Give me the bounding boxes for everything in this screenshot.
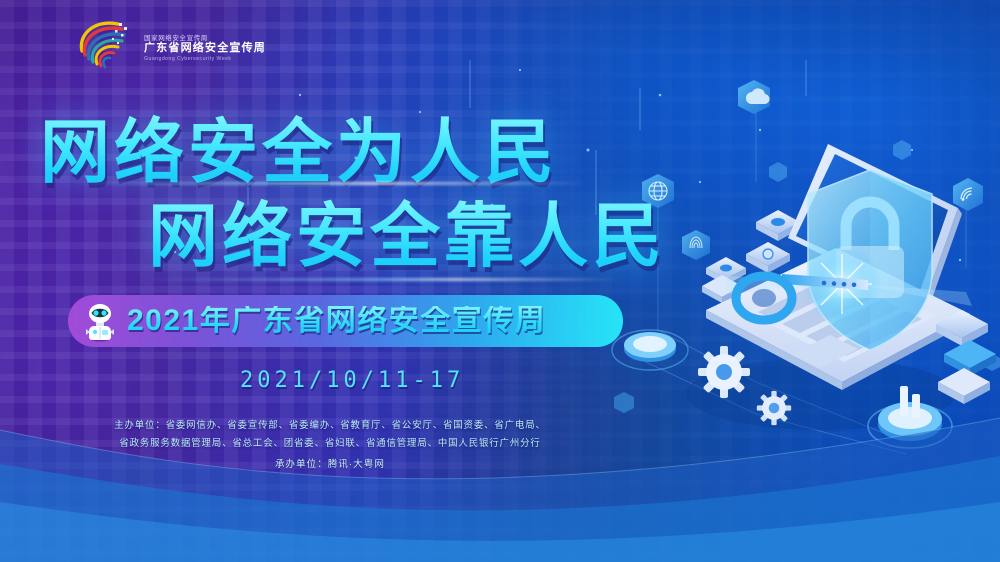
title-glow-streak-1 bbox=[70, 182, 590, 185]
robot-mascot-icon bbox=[83, 302, 117, 342]
wifi-icon bbox=[953, 178, 983, 211]
bottom-wave-decoration bbox=[0, 352, 1000, 562]
subtitle-pill: 2021年广东省网络安全宣传周 bbox=[68, 295, 623, 347]
cloud-icon bbox=[738, 80, 770, 114]
cybersecurity-week-swoosh-logo-icon bbox=[72, 17, 136, 73]
logo-line-english: Guangdong Cybersecurity Week bbox=[144, 56, 266, 62]
main-title: 网络安全为人民 网络安全靠人民 bbox=[0, 112, 660, 280]
subtitle-text: 2021年广东省网络安全宣传周 bbox=[127, 306, 546, 336]
logo-line-province: 广东省网络安全宣传周 bbox=[144, 43, 266, 55]
poster-canvas: 国家网络安全宣传周 广东省网络安全宣传周 Guangdong Cybersecu… bbox=[0, 0, 1000, 562]
logo-line-national: 国家网络安全宣传周 bbox=[144, 32, 266, 42]
event-logo: 国家网络安全宣传周 广东省网络安全宣传周 Guangdong Cybersecu… bbox=[72, 14, 272, 76]
event-logo-text: 国家网络安全宣传周 广东省网络安全宣传周 Guangdong Cybersecu… bbox=[144, 28, 266, 62]
title-glow-streak-2 bbox=[140, 278, 620, 281]
fingerprint-icon bbox=[682, 230, 710, 260]
title-line-2: 网络安全靠人民 bbox=[0, 196, 660, 280]
